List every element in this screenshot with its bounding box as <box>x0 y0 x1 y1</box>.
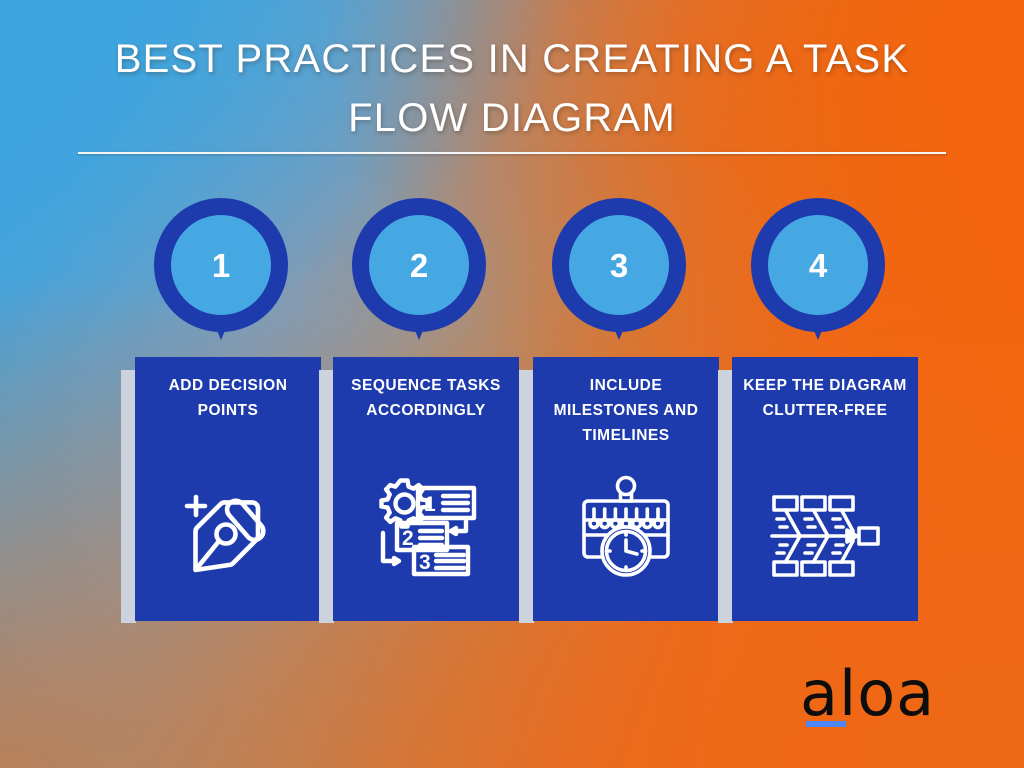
step-number-3: 3 <box>610 249 628 282</box>
step-card-2[interactable]: 2 SEQUENCE TASKS ACCORDINGLY 1 <box>319 198 519 638</box>
card-wrap-4: KEEP THE DIAGRAM CLUTTER-FREE <box>718 357 918 627</box>
step-label-4: KEEP THE DIAGRAM CLUTTER-FREE <box>742 373 908 423</box>
card-wrap-1: ADD DECISION POINTS <box>121 357 321 627</box>
calendar-clock-icon <box>533 475 719 579</box>
step-badge-2: 2 <box>352 198 486 348</box>
logo-wordmark: aloa <box>800 663 950 725</box>
pin-inner-circle: 1 <box>171 215 271 315</box>
step-number-1: 1 <box>212 249 230 282</box>
pin-inner-circle: 2 <box>369 215 469 315</box>
steps-row: 1 ADD DECISION POINTS <box>0 198 1024 638</box>
page-title: BEST PRACTICES IN CREATING A TASK FLOW D… <box>0 30 1024 148</box>
card-accent-strip <box>121 370 136 623</box>
step-label-1: ADD DECISION POINTS <box>145 373 311 423</box>
svg-text:3: 3 <box>419 551 431 574</box>
card-wrap-3: INCLUDE MILESTONES AND TIMELINES <box>519 357 719 627</box>
card-accent-strip <box>718 370 733 623</box>
card-accent-strip <box>319 370 334 623</box>
card-wrap-2: SEQUENCE TASKS ACCORDINGLY 1 2 3 <box>319 357 519 627</box>
pen-nib-plus-icon <box>135 487 321 579</box>
card-accent-strip <box>519 370 534 623</box>
step-badge-1: 1 <box>154 198 288 348</box>
aloa-logo: aloa <box>800 663 950 735</box>
pin-ring: 2 <box>352 198 486 332</box>
pin-inner-circle: 4 <box>768 215 868 315</box>
step-badge-3: 3 <box>552 198 686 348</box>
pin-ring: 3 <box>552 198 686 332</box>
svg-text:1: 1 <box>424 493 436 516</box>
fishbone-diagram-icon <box>732 493 918 579</box>
card-body-4[interactable]: KEEP THE DIAGRAM CLUTTER-FREE <box>732 357 918 621</box>
step-number-2: 2 <box>410 249 428 282</box>
step-badge-4: 4 <box>751 198 885 348</box>
step-card-3[interactable]: 3 INCLUDE MILESTONES AND TIMELINES <box>519 198 719 638</box>
card-body-3[interactable]: INCLUDE MILESTONES AND TIMELINES <box>533 357 719 621</box>
logo-underline-accent <box>806 721 846 727</box>
pin-inner-circle: 3 <box>569 215 669 315</box>
card-body-1[interactable]: ADD DECISION POINTS <box>135 357 321 621</box>
step-number-4: 4 <box>809 249 827 282</box>
step-label-2: SEQUENCE TASKS ACCORDINGLY <box>343 373 509 423</box>
pin-ring: 4 <box>751 198 885 332</box>
title-block: BEST PRACTICES IN CREATING A TASK FLOW D… <box>0 30 1024 148</box>
card-body-2[interactable]: SEQUENCE TASKS ACCORDINGLY 1 2 3 <box>333 357 519 621</box>
title-divider <box>78 152 946 154</box>
pin-ring: 1 <box>154 198 288 332</box>
gear-task-list-icon: 1 2 3 <box>333 475 519 579</box>
step-label-3: INCLUDE MILESTONES AND TIMELINES <box>543 373 709 448</box>
step-card-1[interactable]: 1 ADD DECISION POINTS <box>121 198 321 638</box>
step-card-4[interactable]: 4 KEEP THE DIAGRAM CLUTTER-FREE <box>718 198 918 638</box>
